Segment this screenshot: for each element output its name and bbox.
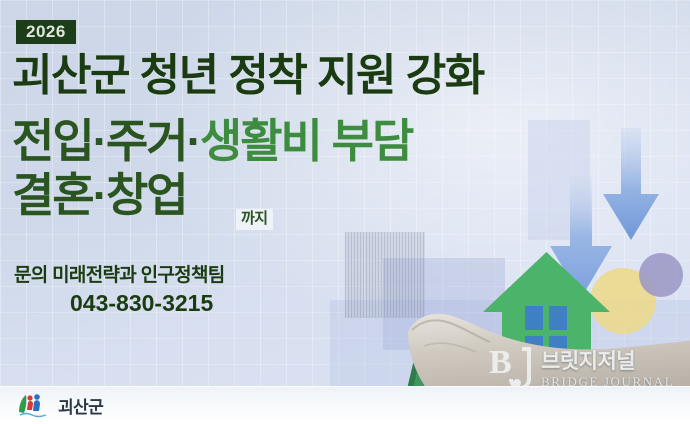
- open-hand-icon: [406, 290, 690, 400]
- yellow-circle-decoration: [590, 268, 656, 334]
- purple-circle-decoration: [639, 253, 683, 297]
- poster-canvas: 2026 괴산군 청년 정착 지원 강화 전입·주거·생활비 부담 결혼·창업 …: [0, 0, 690, 424]
- until-badge: 까지: [236, 209, 273, 230]
- subtitle-line-2: 결혼·창업: [12, 172, 187, 218]
- year-badge: 2026: [16, 20, 76, 44]
- arrow-down-icon-secondary: [550, 176, 612, 298]
- background-block-wide: [330, 300, 690, 386]
- brand-logo[interactable]: 괴산군: [16, 392, 103, 418]
- footer-bar: [0, 386, 690, 424]
- contact-label: 문의 미래전략과 인구정책팀: [14, 263, 225, 288]
- brand-name: 괴산군: [58, 393, 103, 418]
- watermark-text: 브릿지저널 BRIDGE JOURNAL: [541, 351, 674, 388]
- goesan-gun-logo-icon: [16, 392, 50, 418]
- page-title: 괴산군 청년 정착 지원 강화: [12, 54, 484, 98]
- house-icon: [481, 250, 612, 368]
- contact-phone: 043-830-3215: [70, 292, 213, 315]
- background-block-light: [528, 120, 590, 240]
- arrow-down-icon: [603, 128, 659, 240]
- background-block-striped: [345, 232, 425, 318]
- subtitle-line-1-green: 생활비 부담: [200, 115, 412, 167]
- pine-tree-icon: [393, 333, 503, 389]
- subtitle-line-1: 전입·주거·생활비 부담: [12, 118, 412, 164]
- svg-text:B: B: [489, 344, 512, 381]
- subtitle-line-1-dark: 전입·주거·: [12, 115, 200, 167]
- background-block-violet: [383, 258, 505, 350]
- watermark-korean: 브릿지저널: [541, 351, 674, 372]
- subtitle-line-2-dark: 결혼·창업: [12, 169, 187, 221]
